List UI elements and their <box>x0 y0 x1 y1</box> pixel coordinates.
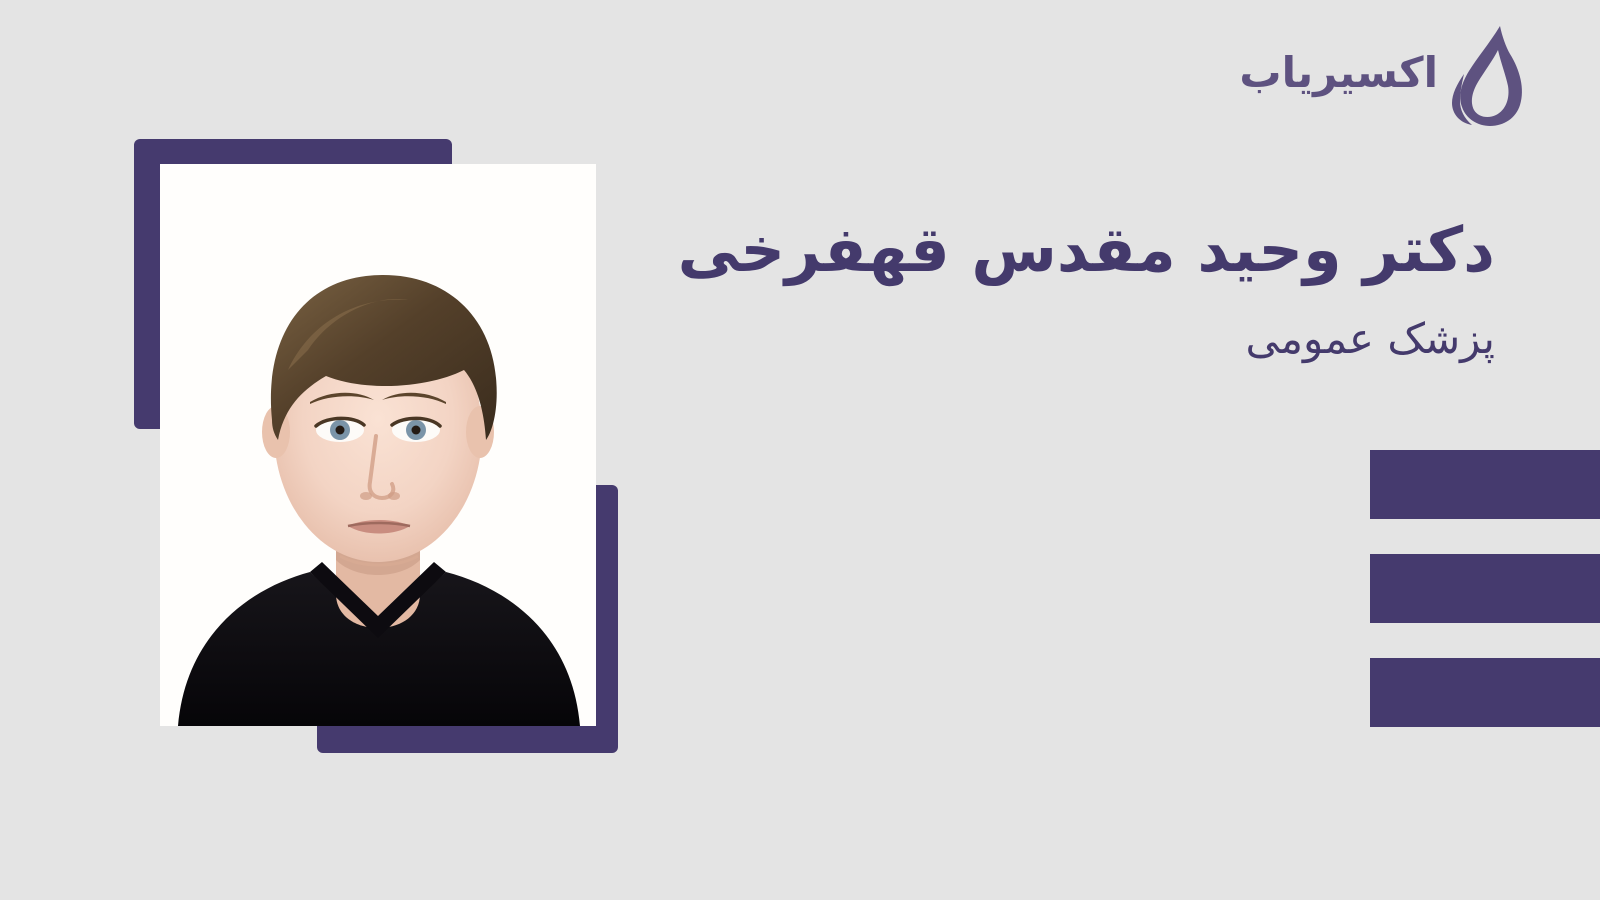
photo-frame <box>160 164 596 726</box>
flame-drop-icon <box>1448 24 1528 128</box>
photo-composition <box>134 139 618 753</box>
decorative-bar-1 <box>1370 450 1600 519</box>
doctor-specialty: پزشک عمومی <box>655 310 1495 369</box>
page-title: دکتر وحید مقدس قهفرخی <box>655 208 1495 292</box>
decorative-bar-3 <box>1370 658 1600 727</box>
profile-card-canvas: اکسیریاب <box>0 0 1600 900</box>
brand-logo[interactable]: اکسیریاب <box>1239 24 1528 128</box>
decorative-bar-2 <box>1370 554 1600 623</box>
portrait-photo <box>160 164 596 726</box>
decorative-bars <box>1370 450 1600 727</box>
profile-text-block: دکتر وحید مقدس قهفرخی پزشک عمومی <box>655 208 1495 368</box>
brand-wordmark: اکسیریاب <box>1239 52 1438 100</box>
